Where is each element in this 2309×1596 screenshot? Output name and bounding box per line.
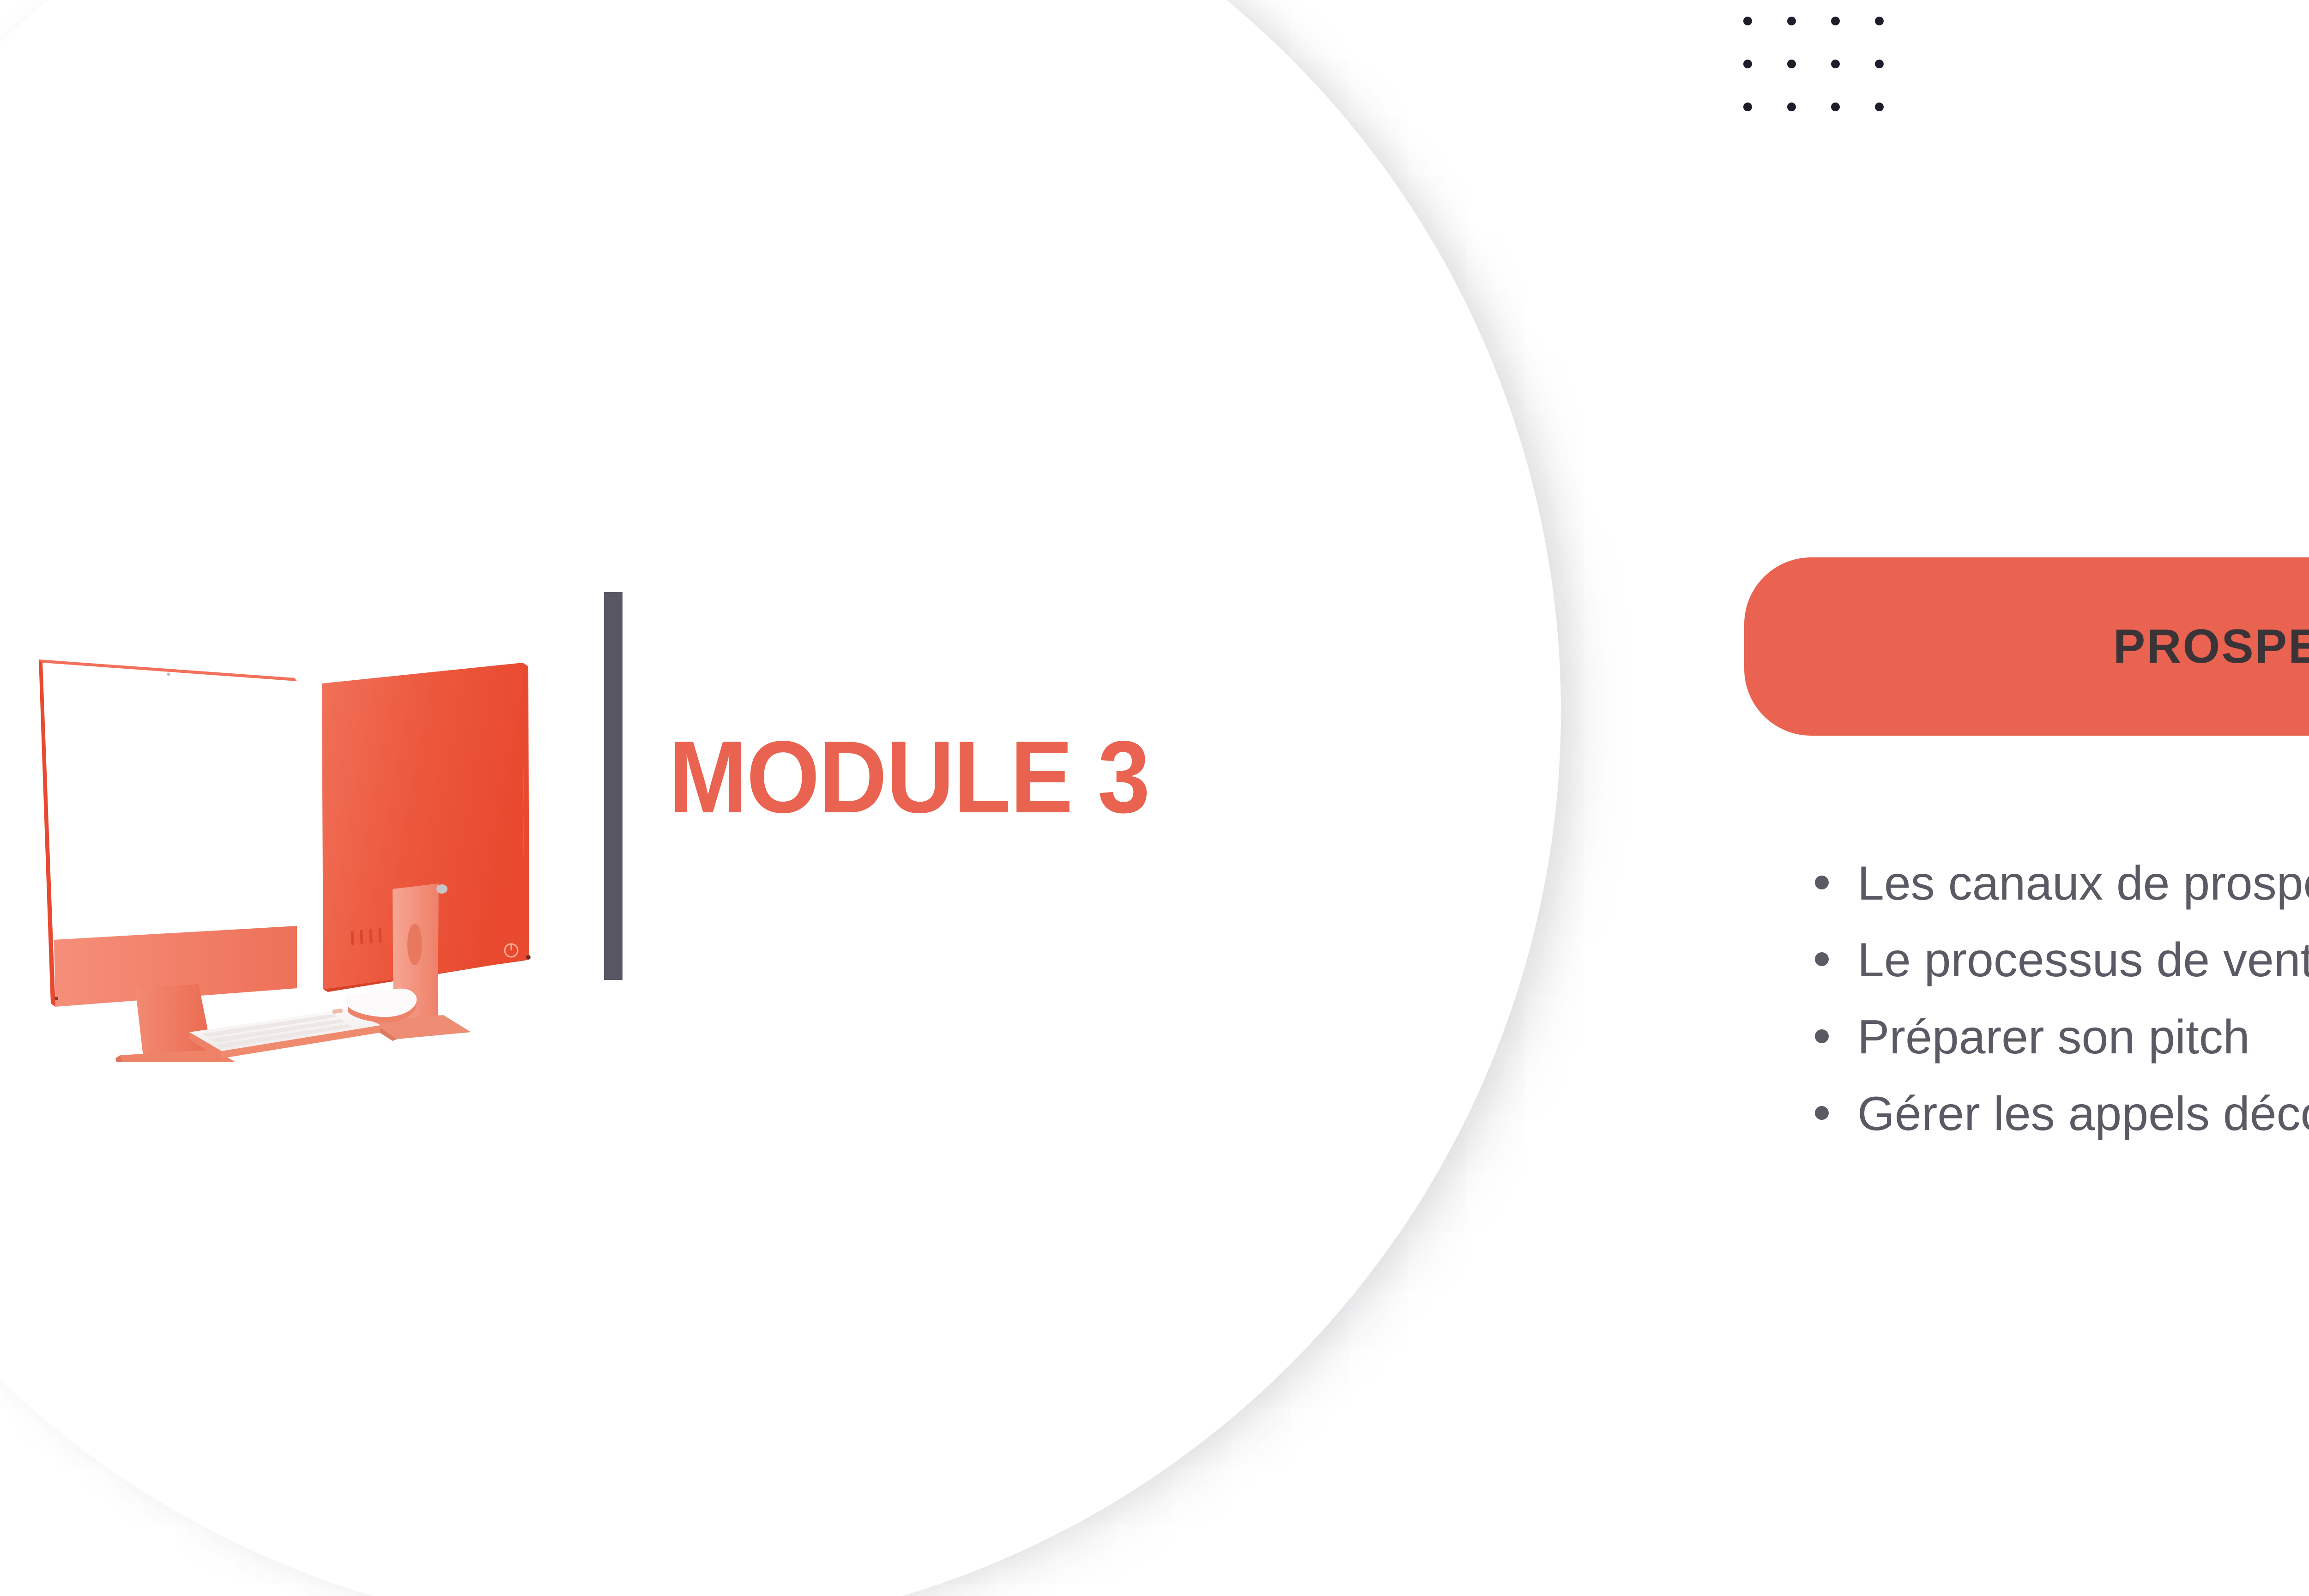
dot-grid-icon: [1743, 17, 1919, 145]
grid-dot: [1831, 60, 1840, 68]
grid-dot: [1743, 60, 1752, 68]
status-badge: PROSPECTION: [1744, 557, 2309, 736]
list-item: Gérer les appels découverte: [1815, 1087, 2309, 1141]
status-badge-label: PROSPECTION: [2113, 619, 2309, 674]
list-item-label: Les canaux de prospection: [1857, 857, 2309, 910]
grid-dot: [1875, 103, 1884, 111]
grid-dot: [1787, 17, 1796, 25]
list-item-label: Préparer son pitch: [1857, 1010, 2250, 1064]
list-item-label: Le processus de vente: [1857, 933, 2309, 987]
bullet-dot-icon: [1815, 1029, 1829, 1043]
list-item: Les canaux de prospection: [1815, 857, 2309, 910]
list-item: Le processus de vente: [1815, 933, 2309, 987]
bullet-dot-icon: [1815, 1106, 1829, 1120]
topic-list: Les canaux de prospection Le processus d…: [1815, 857, 2309, 1141]
bullet-dot-icon: [1815, 876, 1829, 889]
grid-dot: [1831, 103, 1840, 111]
slide-canvas: MODULE 3 PROSPECTION Les canaux de prosp…: [0, 0, 2309, 1596]
desktop-computer-illustration: [28, 637, 582, 1062]
grid-dot: [1831, 17, 1840, 25]
grid-dot: [1787, 103, 1796, 111]
grid-dot: [1787, 60, 1796, 68]
grid-dot: [1875, 60, 1884, 68]
grid-dot: [1875, 17, 1884, 25]
bullet-dot-icon: [1815, 952, 1829, 966]
grid-dot: [1743, 17, 1752, 25]
page-title: MODULE 3: [669, 726, 1149, 828]
list-item-label: Gérer les appels découverte: [1857, 1087, 2309, 1141]
grid-dot: [1743, 103, 1752, 111]
vertical-divider-icon: [604, 592, 623, 980]
list-item: Préparer son pitch: [1815, 1010, 2309, 1064]
